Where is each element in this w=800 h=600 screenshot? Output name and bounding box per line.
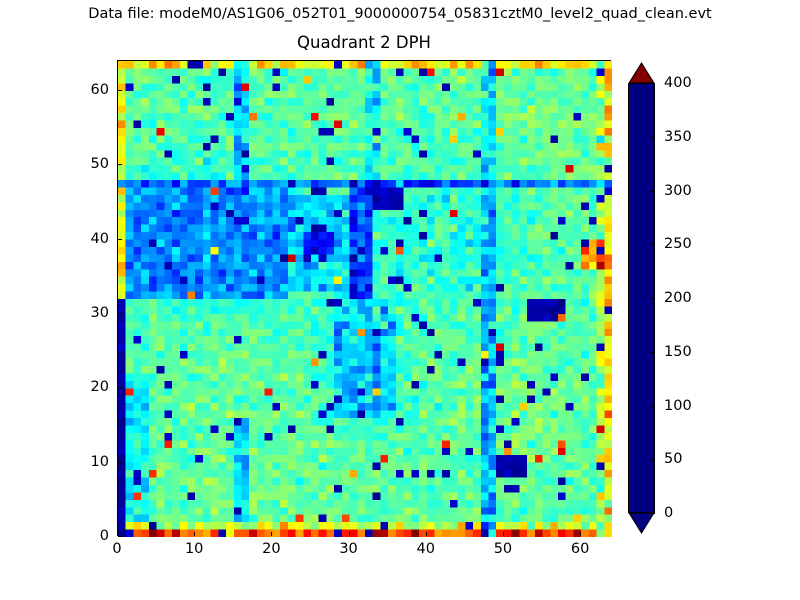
data-file-suptitle: Data file: modeM0/AS1G06_052T01_90000007…: [0, 5, 800, 24]
x-tick-mark: [580, 532, 581, 536]
dph-heatmap-image: [118, 61, 612, 537]
x-tick-label: 30: [319, 541, 379, 557]
x-tick-label: 10: [164, 541, 224, 557]
colorbar: 050100150200250300350400: [628, 62, 656, 534]
y-tick-mark: [118, 462, 122, 463]
colorbar-extend-down-arrow: [628, 512, 655, 534]
colorbar-extend-up-arrow: [628, 62, 655, 84]
colorbar-tick-mark: [650, 459, 655, 460]
figure-canvas: Data file: modeM0/AS1G06_052T01_90000007…: [0, 0, 800, 600]
colorbar-tick-mark: [650, 406, 655, 407]
colorbar-tick-mark: [650, 137, 655, 138]
colorbar-tick-mark: [650, 298, 655, 299]
x-tick-label: 20: [241, 541, 301, 557]
colorbar-tick-label: 250: [664, 236, 692, 252]
y-tick-mark: [118, 536, 122, 537]
y-tick-label: 60: [51, 82, 109, 98]
x-tick-label: 60: [550, 541, 610, 557]
y-tick-label: 20: [51, 379, 109, 395]
colorbar-tick-mark: [650, 513, 655, 514]
colorbar-tick-label: 50: [664, 451, 682, 467]
y-tick-mark: [118, 387, 122, 388]
x-tick-mark: [503, 532, 504, 536]
colorbar-tick-label: 100: [664, 398, 692, 414]
y-tick-mark: [118, 164, 122, 165]
y-tick-mark: [118, 239, 122, 240]
colorbar-tick-mark: [650, 244, 655, 245]
page-title: Quadrant 2 DPH: [117, 32, 611, 54]
x-tick-label: 40: [396, 541, 456, 557]
colorbar-tick-mark: [650, 191, 655, 192]
y-tick-label: 10: [51, 454, 109, 470]
colorbar-tick-label: 150: [664, 344, 692, 360]
x-tick-mark: [271, 532, 272, 536]
colorbar-tick-label: 400: [664, 75, 692, 91]
x-tick-mark: [426, 532, 427, 536]
y-tick-mark: [118, 90, 122, 91]
y-tick-label: 0: [51, 528, 109, 544]
y-tick-label: 40: [51, 231, 109, 247]
y-tick-label: 30: [51, 305, 109, 321]
heatmap-axes: [117, 60, 611, 536]
colorbar-tick-mark: [650, 352, 655, 353]
colorbar-tick-label: 350: [664, 129, 692, 145]
x-tick-mark: [194, 532, 195, 536]
colorbar-tick-label: 300: [664, 183, 692, 199]
colorbar-tick-label: 0: [664, 505, 673, 521]
colorbar-tick-mark: [650, 83, 655, 84]
x-tick-mark: [349, 532, 350, 536]
colorbar-tick-label: 200: [664, 290, 692, 306]
y-tick-mark: [118, 313, 122, 314]
x-tick-label: 50: [473, 541, 533, 557]
y-tick-label: 50: [51, 156, 109, 172]
